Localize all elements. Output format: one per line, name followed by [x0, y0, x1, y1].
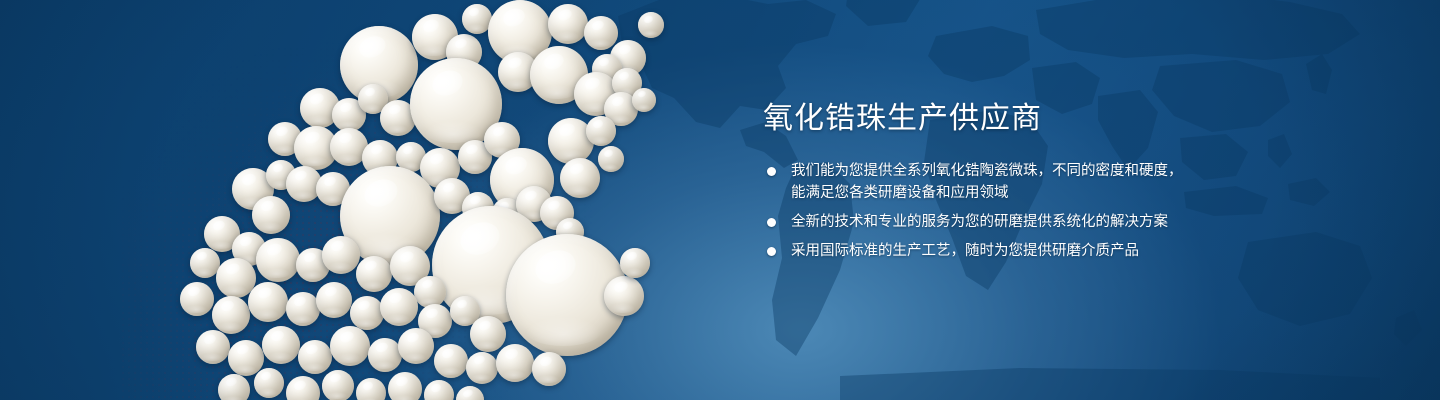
feature-list: 我们能为您提供全系列氧化锆陶瓷微珠，不同的密度和硬度， 能满足您各类研磨设备和应…	[763, 160, 1233, 262]
bullet-dot-icon	[767, 247, 776, 256]
list-item: 我们能为您提供全系列氧化锆陶瓷微珠，不同的密度和硬度， 能满足您各类研磨设备和应…	[763, 160, 1233, 204]
list-item-line-2: 能满足您各类研磨设备和应用领域	[791, 182, 1233, 204]
list-item-line-1: 我们能为您提供全系列氧化锆陶瓷微珠，不同的密度和硬度，	[791, 160, 1233, 182]
hero-banner: 氧化锆珠生产供应商 我们能为您提供全系列氧化锆陶瓷微珠，不同的密度和硬度， 能满…	[0, 0, 1440, 400]
banner-copy: 氧化锆珠生产供应商 我们能为您提供全系列氧化锆陶瓷微珠，不同的密度和硬度， 能满…	[763, 104, 1233, 262]
page-title: 氧化锆珠生产供应商	[763, 104, 1233, 134]
list-item: 采用国际标准的生产工艺，随时为您提供研磨介质产品	[763, 240, 1233, 262]
list-item-line-1: 采用国际标准的生产工艺，随时为您提供研磨介质产品	[791, 240, 1233, 262]
bullet-dot-icon	[767, 218, 776, 227]
bullet-dot-icon	[767, 167, 776, 176]
list-item-line-1: 全新的技术和专业的服务为您的研磨提供系统化的解决方案	[791, 211, 1233, 233]
list-item: 全新的技术和专业的服务为您的研磨提供系统化的解决方案	[763, 211, 1233, 233]
